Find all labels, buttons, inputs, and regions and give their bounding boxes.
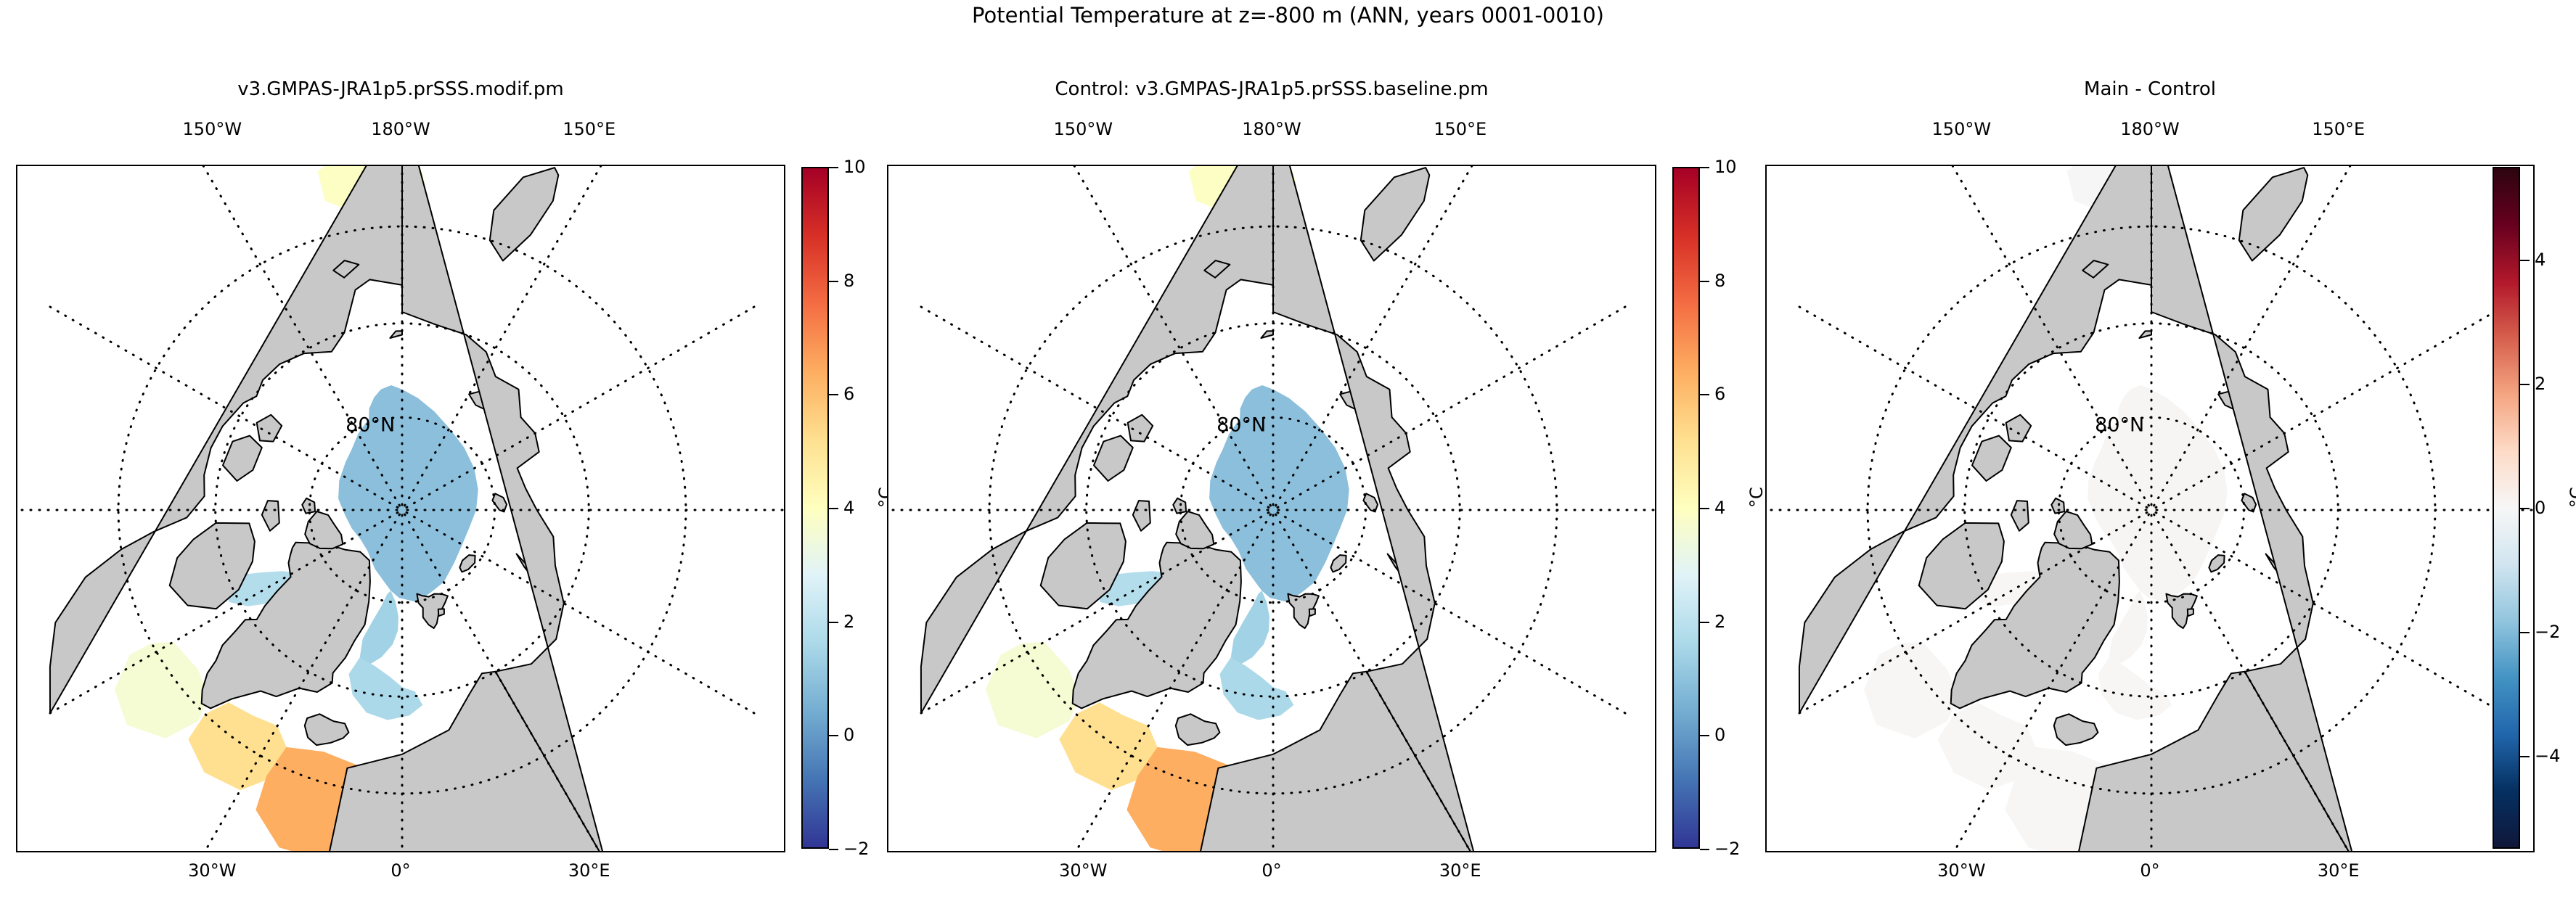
lon-label-top-2: 150°E [2312, 119, 2365, 139]
colorbar-main[interactable]: 1086420−2°C [801, 167, 829, 849]
lon-label-top-1: 180°W [2120, 119, 2180, 139]
colorbar-tick-label: 2 [1714, 612, 1725, 632]
colorbar-tick-label: 4 [1714, 498, 1725, 518]
colorbar-tick-label: 0 [843, 725, 854, 745]
colorbar-gradient [801, 167, 829, 849]
colorbar-tick-label: −2 [1714, 839, 1740, 859]
colorbar-tick [2520, 756, 2530, 757]
colorbar-tick [2520, 260, 2530, 261]
lat-label-80n: 80°N [2095, 414, 2144, 437]
colorbar-gradient [1672, 167, 1700, 849]
colorbar-unit-label: °C [1746, 487, 1767, 508]
panel-title-main: v3.GMPAS-JRA1p5.prSSS.modif.pm [16, 78, 785, 100]
colorbar-unit-label: °C [2567, 487, 2576, 508]
colorbar-tick [1700, 622, 1709, 623]
lon-label-bottom-2: 30°E [568, 860, 610, 881]
colorbar-tick [829, 735, 838, 736]
colorbar-tick-label: 2 [843, 612, 854, 632]
lon-label-top-1: 180°W [371, 119, 430, 139]
map-main[interactable]: 80°N [16, 165, 785, 852]
colorbar-tick [829, 281, 838, 282]
lon-label-bottom-1: 0° [391, 860, 410, 881]
colorbar-tick [1700, 735, 1709, 736]
lon-label-top-2: 150°E [563, 119, 616, 139]
colorbar-tick-label: 0 [2535, 498, 2546, 518]
map-difference[interactable]: 80°N [1765, 165, 2535, 852]
colorbar-tick [1700, 281, 1709, 282]
lon-label-bottom-1: 0° [2140, 860, 2159, 881]
lat-label-80n: 80°N [1217, 414, 1266, 437]
colorbar-tick [1700, 394, 1709, 395]
colorbar-tick [1700, 508, 1709, 509]
map-control[interactable]: 80°N [887, 165, 1656, 852]
lon-label-top-2: 150°E [1434, 119, 1487, 139]
colorbar-tick-label: 6 [1714, 384, 1725, 404]
lon-label-bottom-2: 30°E [2318, 860, 2360, 881]
colorbar-tick [829, 622, 838, 623]
landmass-svalbard2 [1309, 609, 1315, 616]
colorbar-tick-label: −2 [843, 839, 869, 859]
lon-label-bottom-0: 30°W [188, 860, 236, 881]
colorbar-tick-label: 6 [843, 384, 854, 404]
colorbar-tick [829, 394, 838, 395]
lon-label-top-0: 150°W [1932, 119, 1992, 139]
colorbar-tick [829, 167, 838, 168]
figure-root: Potential Temperature at z=-800 m (ANN, … [0, 0, 2576, 901]
colorbar-control[interactable]: 1086420−2°C [1672, 167, 1700, 849]
colorbar-tick [2520, 384, 2530, 385]
panel-title-difference: Main - Control [1765, 78, 2535, 100]
colorbar-tick-label: 8 [1714, 271, 1725, 291]
colorbar-tick-label: 8 [843, 271, 854, 291]
colorbar-tick-label: 2 [2535, 374, 2546, 394]
lon-label-top-1: 180°W [1242, 119, 1301, 139]
colorbar-tick-label: 4 [2535, 250, 2546, 270]
lon-label-bottom-2: 30°E [1439, 860, 1481, 881]
colorbar-tick-label: −2 [2535, 622, 2560, 642]
colorbar-tick [1700, 849, 1709, 850]
colorbar-tick [1700, 167, 1709, 168]
landmass-svalbard2 [438, 609, 444, 616]
colorbar-tick-label: 10 [1714, 157, 1737, 177]
colorbar-tick-label: −4 [2535, 746, 2560, 766]
lat-label-80n: 80°N [345, 414, 395, 437]
colorbar-tick [2520, 508, 2530, 509]
colorbar-gradient [2493, 167, 2520, 849]
lon-label-bottom-1: 0° [1262, 860, 1281, 881]
colorbar-tick [829, 508, 838, 509]
colorbar-tick [2520, 632, 2530, 633]
colorbar-tick-label: 10 [843, 157, 866, 177]
colorbar-tick-label: 0 [1714, 725, 1725, 745]
lon-label-bottom-0: 30°W [1937, 860, 1985, 881]
lon-label-top-0: 150°W [183, 119, 242, 139]
panel-title-control: Control: v3.GMPAS-JRA1p5.prSSS.baseline.… [887, 78, 1656, 100]
colorbar-tick-label: 4 [843, 498, 854, 518]
lon-label-bottom-0: 30°W [1059, 860, 1107, 881]
colorbar-tick [829, 849, 838, 850]
landmass-svalbard2 [2188, 609, 2193, 616]
figure-title: Potential Temperature at z=-800 m (ANN, … [0, 3, 2576, 28]
lon-label-top-0: 150°W [1054, 119, 1113, 139]
colorbar-difference[interactable]: 420−2−4°C [2493, 167, 2520, 849]
